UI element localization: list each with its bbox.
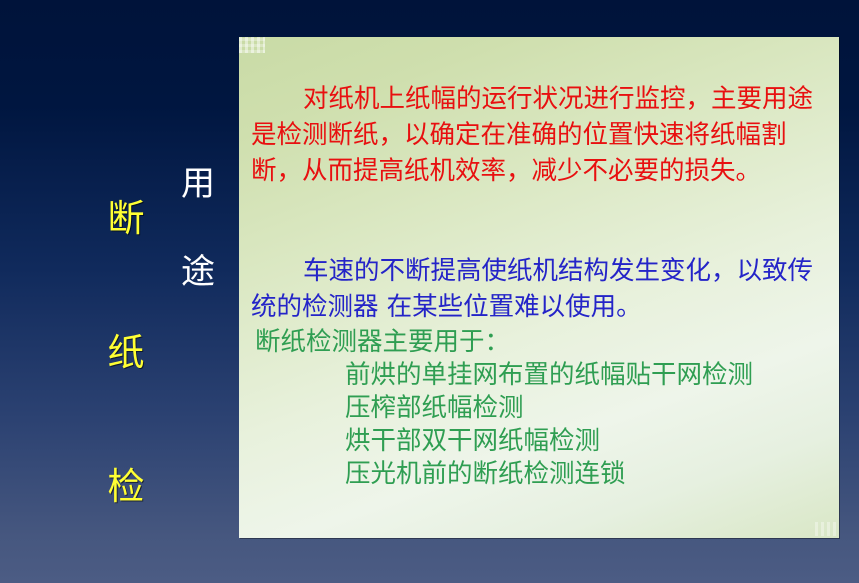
list-item: 压榨部纸幅检测 bbox=[345, 392, 835, 425]
title-char-2: 纸 bbox=[100, 319, 152, 386]
subtitle-char-2: 途 bbox=[176, 250, 220, 294]
subtitle-char-1: 用 bbox=[176, 162, 220, 206]
panel-corner-texture-bottom bbox=[815, 522, 837, 536]
green-application-list: 前烘的单挂网布置的纸幅贴干网检测 压榨部纸幅检测 烘干部双干网纸幅检测 压光机前… bbox=[345, 359, 835, 491]
list-item: 压光机前的断纸检测连锁 bbox=[345, 458, 835, 491]
paragraph-background-blue: 车速的不断提高使纸机结构发生变化，以致传统的检测器 在某些位置难以使用。 bbox=[251, 253, 837, 325]
paragraph-purpose-red: 对纸机上纸幅的运行状况进行监控，主要用途是检测断纸，以确定在准确的位置快速将纸幅… bbox=[251, 81, 837, 189]
title-char-1: 断 bbox=[100, 185, 152, 252]
panel-corner-texture-top bbox=[239, 37, 265, 53]
presentation-slide: 断 纸 检 测 器 用 途 对纸机上纸幅的运行状况进行监控，主要用途是检测断纸，… bbox=[0, 0, 859, 583]
list-item: 前烘的单挂网布置的纸幅贴干网检测 bbox=[345, 359, 835, 392]
slide-vertical-subtitle: 用 途 bbox=[176, 118, 220, 338]
green-list-heading: 断纸检测器主要用于： bbox=[255, 325, 835, 359]
title-char-3: 检 bbox=[100, 453, 152, 520]
list-item: 烘干部双干网纸幅检测 bbox=[345, 425, 835, 458]
content-panel: 对纸机上纸幅的运行状况进行监控，主要用途是检测断纸，以确定在准确的位置快速将纸幅… bbox=[239, 37, 839, 538]
slide-vertical-title: 断 纸 检 测 器 bbox=[100, 118, 152, 583]
